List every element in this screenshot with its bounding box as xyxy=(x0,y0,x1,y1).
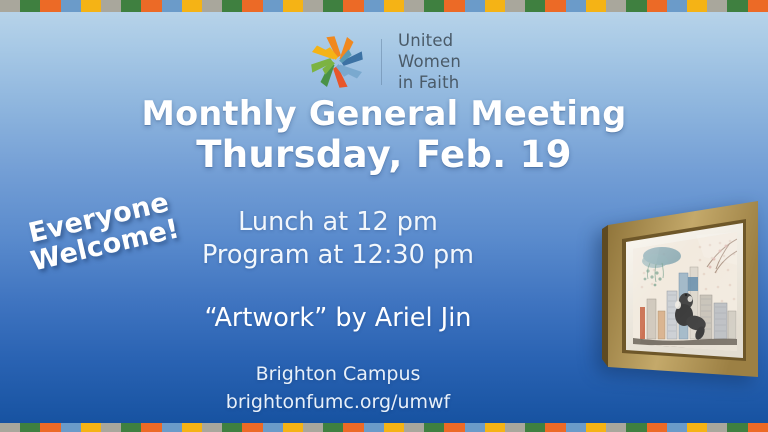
border-square xyxy=(222,0,242,12)
border-square xyxy=(121,423,141,432)
border-square xyxy=(545,0,565,12)
border-square xyxy=(323,423,343,432)
border-square xyxy=(222,423,242,432)
border-square xyxy=(748,423,768,432)
border-square xyxy=(20,423,40,432)
border-square xyxy=(40,423,60,432)
headline-block: Monthly General Meeting Thursday, Feb. 1… xyxy=(0,96,768,176)
border-square xyxy=(61,423,81,432)
border-square xyxy=(283,0,303,12)
border-square xyxy=(606,0,626,12)
border-square xyxy=(525,0,545,12)
border-square xyxy=(343,423,363,432)
border-square xyxy=(81,0,101,12)
border-square xyxy=(465,0,485,12)
border-square xyxy=(404,423,424,432)
border-square xyxy=(202,423,222,432)
logo-wordmark: United Women in Faith xyxy=(398,30,461,93)
border-square xyxy=(566,423,586,432)
border-square xyxy=(101,0,121,12)
border-square xyxy=(505,423,525,432)
border-square xyxy=(303,423,323,432)
border-square xyxy=(323,0,343,12)
border-square xyxy=(586,0,606,12)
border-square xyxy=(242,423,262,432)
border-square xyxy=(424,0,444,12)
border-square xyxy=(141,0,161,12)
border-square xyxy=(263,0,283,12)
border-square xyxy=(707,423,727,432)
lunch-time: Lunch at 12 pm xyxy=(118,206,558,239)
border-square xyxy=(40,0,60,12)
border-square xyxy=(687,0,707,12)
border-square xyxy=(81,423,101,432)
border-square xyxy=(505,0,525,12)
border-square xyxy=(485,0,505,12)
venue-block: Brighton Campus brightonfumc.org/umwf xyxy=(118,361,558,416)
border-square xyxy=(566,0,586,12)
border-square xyxy=(687,423,707,432)
border-square xyxy=(525,423,545,432)
border-square xyxy=(626,0,646,12)
border-square xyxy=(485,423,505,432)
border-square xyxy=(242,0,262,12)
bottom-border-strip xyxy=(0,423,768,432)
border-square xyxy=(727,423,747,432)
border-square xyxy=(384,0,404,12)
border-square xyxy=(0,423,20,432)
website-url[interactable]: brightonfumc.org/umwf xyxy=(118,389,558,417)
border-square xyxy=(343,0,363,12)
border-square xyxy=(121,0,141,12)
program-time: Program at 12:30 pm xyxy=(118,239,558,272)
poster-canvas: United Women in Faith Monthly General Me… xyxy=(0,0,768,432)
border-square xyxy=(667,0,687,12)
logo-divider xyxy=(381,39,382,85)
border-square xyxy=(364,0,384,12)
border-square xyxy=(182,0,202,12)
border-square xyxy=(141,423,161,432)
border-square xyxy=(444,423,464,432)
border-square xyxy=(384,423,404,432)
border-square xyxy=(101,423,121,432)
border-square xyxy=(364,423,384,432)
border-square xyxy=(707,0,727,12)
framed-artwork-photo xyxy=(600,199,766,391)
artwork-credit: “Artwork” by Ariel Jin xyxy=(118,302,558,335)
border-square xyxy=(465,423,485,432)
border-square xyxy=(283,423,303,432)
border-square xyxy=(727,0,747,12)
border-square xyxy=(404,0,424,12)
border-square xyxy=(667,423,687,432)
border-square xyxy=(303,0,323,12)
border-square xyxy=(263,423,283,432)
border-square xyxy=(162,0,182,12)
border-square xyxy=(182,423,202,432)
event-details: Lunch at 12 pm Program at 12:30 pm “Artw… xyxy=(118,206,558,417)
campus-name: Brighton Campus xyxy=(118,361,558,389)
border-square xyxy=(202,0,222,12)
border-square xyxy=(606,423,626,432)
border-square xyxy=(545,423,565,432)
border-square xyxy=(647,0,667,12)
border-square xyxy=(20,0,40,12)
border-square xyxy=(0,0,20,12)
border-square xyxy=(162,423,182,432)
border-square xyxy=(748,0,768,12)
border-square xyxy=(444,0,464,12)
border-square xyxy=(424,423,444,432)
border-square xyxy=(647,423,667,432)
page-title: Monthly General Meeting xyxy=(0,96,768,132)
border-square xyxy=(61,0,81,12)
event-date: Thursday, Feb. 19 xyxy=(0,134,768,175)
border-square xyxy=(586,423,606,432)
border-square xyxy=(626,423,646,432)
top-border-strip xyxy=(0,0,768,12)
pinwheel-star-icon xyxy=(307,32,367,92)
brand-logo: United Women in Faith xyxy=(0,30,768,93)
